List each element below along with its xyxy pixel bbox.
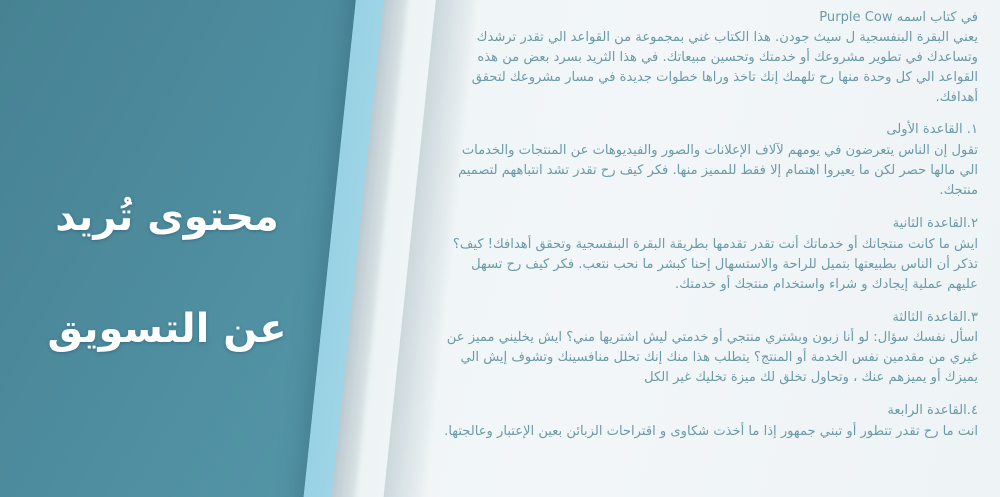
headline-line-2: عن التسويق xyxy=(22,308,312,350)
rule-block-1: ١. القاعدة الأولى تقول إن الناس يتعرضون … xyxy=(440,120,978,201)
rule-3-body: اسأل نفسك سؤال: لو أنا زبون وبشتري منتجي… xyxy=(440,328,978,388)
rule-1-body: تقول إن الناس يتعرضون في يومهم لآلاف الإ… xyxy=(440,141,978,201)
rule-4-title: ٤.القاعدة الرابعة xyxy=(440,401,978,421)
rule-block-2: ٢.القاعدة الثانية ايش ما كانت منتجاتك أو… xyxy=(440,214,978,295)
headline-line-1: محتوى تُريد xyxy=(22,196,312,238)
book-title: Purple Cow xyxy=(819,10,892,25)
intro-block: في كتاب اسمه Purple Cow يعني البقرة البن… xyxy=(440,8,978,107)
intro-body: يعني البقرة البنفسجية ل سيث جودن. هذا ال… xyxy=(440,28,978,108)
slide-headline: محتوى تُريد عن التسويق xyxy=(22,196,312,350)
rule-block-4: ٤.القاعدة الرابعة انت ما رح تقدر تتطور أ… xyxy=(440,401,978,442)
slide-canvas: محتوى تُريد عن التسويق في كتاب اسمه Purp… xyxy=(0,0,1000,497)
rule-1-title: ١. القاعدة الأولى xyxy=(440,120,978,140)
intro-first-line: في كتاب اسمه Purple Cow xyxy=(440,8,978,28)
rule-3-title: ٣.القاعدة الثالثة xyxy=(440,308,978,328)
rule-2-body: ايش ما كانت منتجاتك أو خدماتك أنت تقدر ت… xyxy=(440,235,978,295)
intro-prefix: في كتاب اسمه xyxy=(893,10,978,25)
rule-block-3: ٣.القاعدة الثالثة اسأل نفسك سؤال: لو أنا… xyxy=(440,308,978,389)
rule-2-title: ٢.القاعدة الثانية xyxy=(440,214,978,234)
body-content: في كتاب اسمه Purple Cow يعني البقرة البن… xyxy=(440,8,978,442)
rule-4-body: انت ما رح تقدر تتطور أو تبني جمهور إذا م… xyxy=(440,422,978,442)
